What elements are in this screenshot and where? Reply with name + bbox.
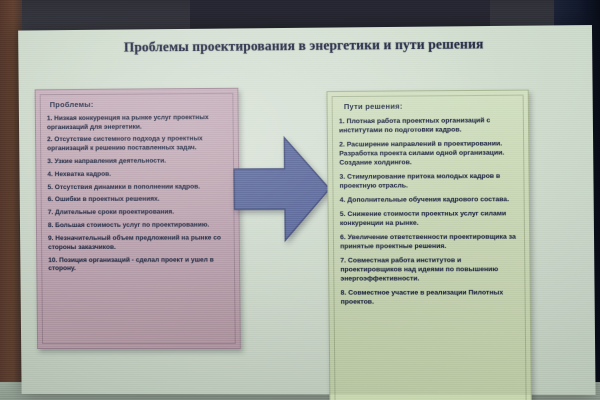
list-item: 9. Незначительный объем предложений на р…: [48, 235, 230, 253]
problems-panel: Проблемы: 1. Низкая конкуренция на рынке…: [35, 88, 241, 349]
projected-slide-photo: Проблемы проектирования в энергетики и п…: [0, 0, 600, 400]
list-item: 1. Низкая конкуренция на рынке услуг про…: [47, 114, 229, 132]
right-arrow-icon: [232, 135, 332, 242]
list-item: 3. Узкие направления деятельности.: [47, 157, 229, 167]
solutions-list: 1. Плотная работа проектных организаций …: [339, 116, 521, 307]
list-item: 7. Совместная работа институтов и проект…: [340, 256, 520, 284]
list-item: 2. Расширение направлений в проектирован…: [339, 139, 519, 167]
list-item: 8. Совместное участие в реализации Пилот…: [341, 288, 521, 306]
solutions-panel: Пути решения: 1. Плотная работа проектны…: [326, 90, 531, 400]
list-item: 5. Отсутствия динамики в пополнении кадр…: [48, 183, 230, 192]
list-item: 3. Стимулирование притока молодых кадров…: [339, 172, 519, 191]
list-item: 8. Большая стоимость услуг по проектиров…: [48, 222, 230, 231]
list-item: 4. Нехватка кадров.: [47, 170, 229, 179]
list-item: 6. Увеличение ответственности проектиров…: [340, 233, 520, 252]
list-item: 10. Позиция организаций - сделал проект …: [48, 256, 230, 273]
page-title: Проблемы проектирования в энергетики и п…: [18, 35, 592, 56]
list-item: 6. Ошибки в проектных решениях.: [48, 196, 230, 205]
list-item: 5. Снижение стоимости проектных услуг си…: [340, 209, 520, 228]
list-item: 4. Дополнительные обучения кадрового сос…: [340, 195, 520, 205]
list-item: 2. Отсутствие системного подхода у проек…: [47, 135, 229, 153]
solutions-heading: Пути решения:: [344, 101, 519, 111]
problems-list: 1. Низкая конкуренция на рынке услуг про…: [47, 114, 230, 274]
list-item: 7. Длительные сроки проектирования.: [48, 209, 230, 218]
problems-heading: Проблемы:: [50, 99, 229, 109]
presentation-slide: Проблемы проектирования в энергетики и п…: [18, 25, 595, 395]
list-item: 1. Плотная работа проектных организаций …: [339, 116, 519, 135]
